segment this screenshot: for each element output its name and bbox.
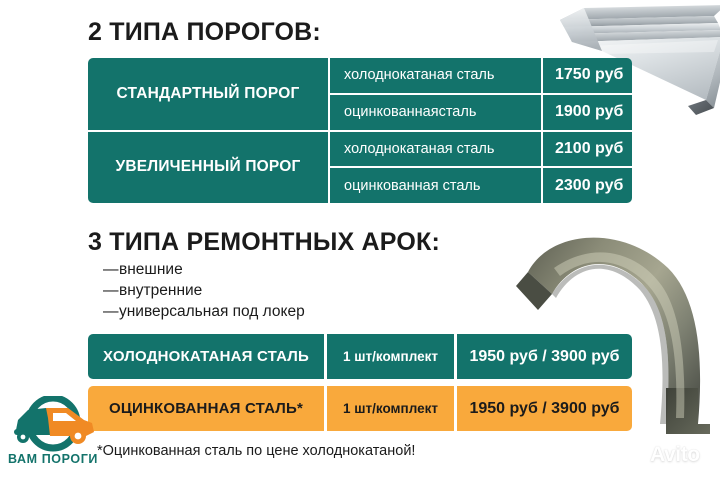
sills-price-table: СТАНДАРТНЫЙ ПОРОГ холоднокатаная сталь 1… <box>88 58 632 203</box>
car-logo-icon <box>6 396 100 452</box>
list-item-label: внешние <box>119 261 183 278</box>
arch-types-list: —внешние —внутренние —универсальная под … <box>103 259 305 322</box>
price-cell: 1750 руб <box>543 58 632 93</box>
price-cell: 2100 руб <box>543 132 632 167</box>
table-row: оцинкованная сталь 2300 руб <box>330 168 632 203</box>
price-cell: 1950 руб / 3900 руб <box>457 386 632 431</box>
sill-type-label: УВЕЛИЧЕННЫЙ ПОРОГ <box>88 132 330 204</box>
sill-type-label: СТАНДАРТНЫЙ ПОРОГ <box>88 58 330 130</box>
material-cell: ХОЛОДНОКАТАНАЯ СТАЛЬ <box>88 334 327 379</box>
sill-type-rows: холоднокатаная сталь 2100 руб оцинкованн… <box>330 132 632 204</box>
table-group-standard: СТАНДАРТНЫЙ ПОРОГ холоднокатаная сталь 1… <box>88 58 632 132</box>
list-item: —внутренние <box>103 280 305 301</box>
material-cell: оцинкованная сталь <box>330 168 543 203</box>
table-row: оцинкованнаясталь 1900 руб <box>330 95 632 130</box>
list-item: —универсальная под локер <box>103 301 305 322</box>
brand-logo: ВАМ ПОРОГИ <box>6 396 100 472</box>
price-cell: 1950 руб / 3900 руб <box>457 334 632 379</box>
list-item: —внешние <box>103 259 305 280</box>
avito-dots-icon <box>624 442 648 468</box>
table-row: холоднокатаная сталь 2100 руб <box>330 132 632 169</box>
arches-price-table: ХОЛОДНОКАТАНАЯ СТАЛЬ 1 шт/комплект 1950 … <box>88 334 632 431</box>
list-item-label: внутренние <box>119 282 202 299</box>
quantity-cell: 1 шт/комплект <box>327 386 457 431</box>
brand-logo-text: ВАМ ПОРОГИ <box>6 452 100 466</box>
footnote-text: *Оцинкованная сталь по цене холоднокатан… <box>97 443 415 459</box>
dash-bullet: — <box>103 301 119 322</box>
dash-bullet: — <box>103 280 119 301</box>
quantity-cell: 1 шт/комплект <box>327 334 457 379</box>
avito-wordmark: Avito <box>650 443 700 467</box>
material-cell: холоднокатаная сталь <box>330 132 543 167</box>
dash-bullet: — <box>103 259 119 280</box>
sill-type-rows: холоднокатаная сталь 1750 руб оцинкованн… <box>330 58 632 130</box>
table-group-enlarged: УВЕЛИЧЕННЫЙ ПОРОГ холоднокатаная сталь 2… <box>88 132 632 204</box>
price-cell: 1900 руб <box>543 95 632 130</box>
page-title-arches: 3 ТИПА РЕМОНТНЫХ АРОК: <box>88 228 440 257</box>
material-cell: оцинкованнаясталь <box>330 95 543 130</box>
table-row: холоднокатаная сталь 1750 руб <box>330 58 632 95</box>
promo-price-card: 2 ТИПА ПОРОГОВ: СТАНДАРТНЫЙ ПОРОГ холодн… <box>0 0 720 480</box>
table-row: ОЦИНКОВАННАЯ СТАЛЬ* 1 шт/комплект 1950 р… <box>88 386 632 431</box>
price-cell: 2300 руб <box>543 168 632 203</box>
list-item-label: универсальная под локер <box>119 303 305 320</box>
material-cell: ОЦИНКОВАННАЯ СТАЛЬ* <box>88 386 327 431</box>
avito-watermark: Avito <box>624 442 716 472</box>
material-cell: холоднокатаная сталь <box>330 58 543 93</box>
table-row: ХОЛОДНОКАТАНАЯ СТАЛЬ 1 шт/комплект 1950 … <box>88 334 632 379</box>
page-title-sills: 2 ТИПА ПОРОГОВ: <box>88 18 321 47</box>
